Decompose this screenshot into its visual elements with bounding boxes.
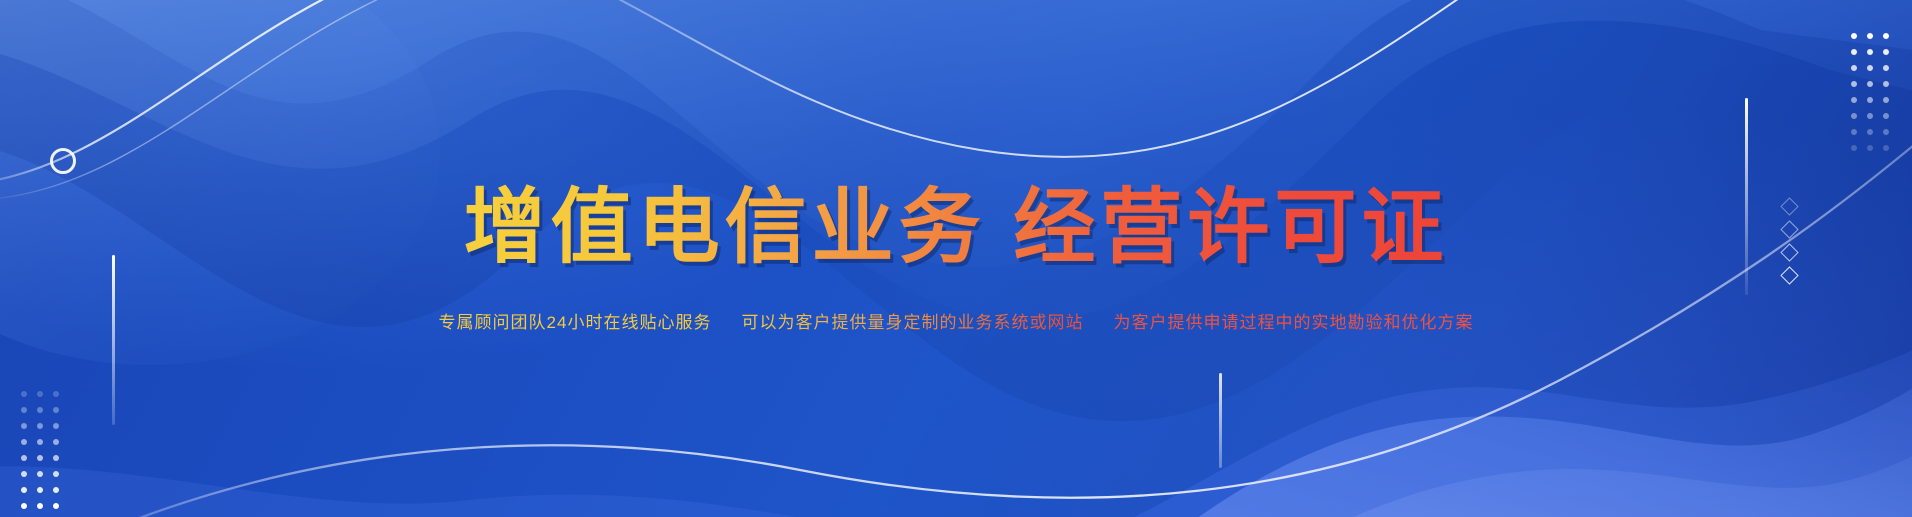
banner-headline: 增值电信业务 经营许可证 [464, 183, 1449, 279]
subtitle-segment-3: 为客户提供申请过程中的实地勘验和优化方案 [1113, 313, 1473, 333]
banner-subtitle: 专属顾问团队24小时在线贴心服务 可以为客户提供量身定制的业务系统或网站 为客户… [439, 313, 1474, 333]
promotional-banner: 增值电信业务 经营许可证 专属顾问团队24小时在线贴心服务 可以为客户提供量身定… [0, 0, 1912, 517]
subtitle-segment-2: 可以为客户提供量身定制的业务系统或网站 [741, 313, 1083, 333]
subtitle-segment-1: 专属顾问团队24小时在线贴心服务 [439, 313, 712, 333]
banner-content: 增值电信业务 经营许可证 专属顾问团队24小时在线贴心服务 可以为客户提供量身定… [0, 0, 1912, 517]
